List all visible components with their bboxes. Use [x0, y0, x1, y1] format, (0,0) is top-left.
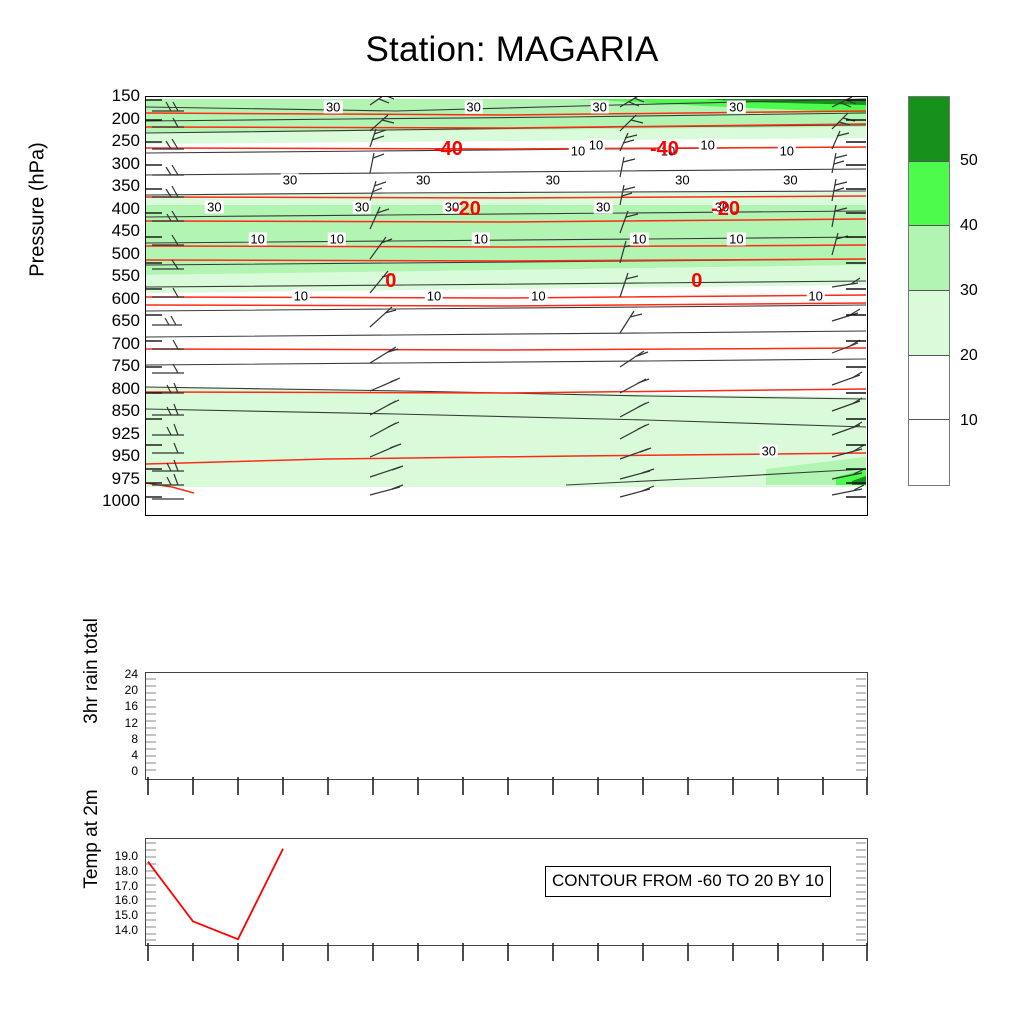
colorbar-tick-20: 20	[960, 347, 978, 365]
rain-total-plot[interactable]	[145, 672, 868, 780]
rain-tick-4: 4	[131, 748, 138, 762]
pressure-tick-925: 925	[112, 424, 140, 444]
wind-contour-label: 30	[781, 173, 799, 186]
temp-tick-14.0: 14.0	[115, 923, 138, 937]
wind-contour-label: 10	[328, 232, 346, 245]
contour-interval-note: CONTOUR FROM -60 TO 20 BY 10	[545, 866, 831, 897]
pressure-tick-600: 600	[112, 289, 140, 309]
wind-contour-label: 30	[414, 173, 432, 186]
wind-contour-label: 10	[778, 144, 796, 157]
rain-tick-24: 24	[125, 667, 138, 681]
pressure-tick-975: 975	[112, 469, 140, 489]
temp-contour-label: 0	[691, 271, 702, 291]
rain-tick-0: 0	[131, 764, 138, 778]
page-title: Station: MAGARIA	[0, 30, 1024, 70]
pressure-tick-850: 850	[112, 401, 140, 421]
pressure-tick-500: 500	[112, 244, 140, 264]
temp-panel-x-ticks	[146, 943, 869, 965]
temp-contour-label: -40	[434, 139, 463, 159]
wind-contour-label: 10	[727, 232, 745, 245]
wind-contour-label: 10	[292, 289, 310, 302]
temp-tick-17.0: 17.0	[115, 879, 138, 893]
pressure-tick-250: 250	[112, 131, 140, 151]
temp-contour-label: -20	[452, 199, 481, 219]
temp-panel-y-ticks: 19.018.017.016.015.014.0	[84, 834, 138, 950]
wind-contour-label: 10	[630, 232, 648, 245]
wind-contour-label: 30	[544, 173, 562, 186]
cross-section-svg	[146, 97, 866, 514]
rain-tick-12: 12	[125, 716, 138, 730]
wind-contour-label: 10	[806, 289, 824, 302]
temp-tick-19.0: 19.0	[115, 849, 138, 863]
pressure-tick-300: 300	[112, 154, 140, 174]
wind-temperature-cross-section-plot[interactable]: 3030303010101010103030303030303030303010…	[145, 96, 868, 516]
colorbar-tick-50: 50	[960, 152, 978, 170]
colorbar-tick-10: 10	[960, 412, 978, 430]
wind-contour-label: 10	[569, 144, 587, 157]
wind-contour-label: 30	[594, 200, 612, 213]
wind-contour-label: 30	[353, 200, 371, 213]
pressure-tick-1000: 1000	[102, 491, 140, 511]
wind-contour-label: 10	[529, 289, 547, 302]
wind-contour-label: 30	[324, 100, 342, 113]
temp-tick-15.0: 15.0	[115, 908, 138, 922]
pressure-tick-700: 700	[112, 334, 140, 354]
rain-series-svg	[146, 673, 866, 778]
pressure-tick-150: 150	[112, 86, 140, 106]
temp-contour-label: -40	[650, 139, 679, 159]
wind-contour-label: 30	[760, 445, 778, 458]
temp-tick-16.0: 16.0	[115, 893, 138, 907]
rain-tick-20: 20	[125, 683, 138, 697]
wind-contour-label: 10	[587, 139, 605, 152]
wind-contour-label: 10	[472, 232, 490, 245]
wind-contour-label: 10	[425, 289, 443, 302]
main-panel-ylabel: Pressure (hPa)	[27, 110, 50, 310]
temp-contour-label: -20	[711, 199, 740, 219]
wind-contour-label: 30	[673, 173, 691, 186]
temp-2m-line	[148, 849, 283, 939]
colorbar-tick-30: 30	[960, 282, 978, 300]
rain-tick-8: 8	[131, 732, 138, 746]
pressure-tick-550: 550	[112, 266, 140, 286]
wind-contour-label: 30	[590, 100, 608, 113]
wind-contour-label: 10	[248, 232, 266, 245]
pressure-tick-400: 400	[112, 199, 140, 219]
colorbar-tick-labels: 5040302010	[908, 96, 1024, 486]
temp-tick-18.0: 18.0	[115, 864, 138, 878]
pressure-tick-450: 450	[112, 221, 140, 241]
temp-contour-label: 0	[385, 271, 396, 291]
wind-contour-label: 30	[464, 100, 482, 113]
colorbar-tick-40: 40	[960, 217, 978, 235]
pressure-tick-750: 750	[112, 356, 140, 376]
wind-contour-label: 30	[205, 200, 223, 213]
rain-tick-16: 16	[125, 699, 138, 713]
pressure-tick-950: 950	[112, 446, 140, 466]
pressure-tick-650: 650	[112, 311, 140, 331]
pressure-tick-350: 350	[112, 176, 140, 196]
wind-contour-label: 30	[281, 173, 299, 186]
pressure-tick-200: 200	[112, 109, 140, 129]
main-panel-y-axis: 1502002503003504004505005506006507007508…	[66, 90, 140, 522]
pressure-tick-800: 800	[112, 379, 140, 399]
wind-contour-label: 10	[698, 139, 716, 152]
wind-contour-label: 30	[727, 100, 745, 113]
rain-panel-x-ticks	[146, 777, 869, 799]
